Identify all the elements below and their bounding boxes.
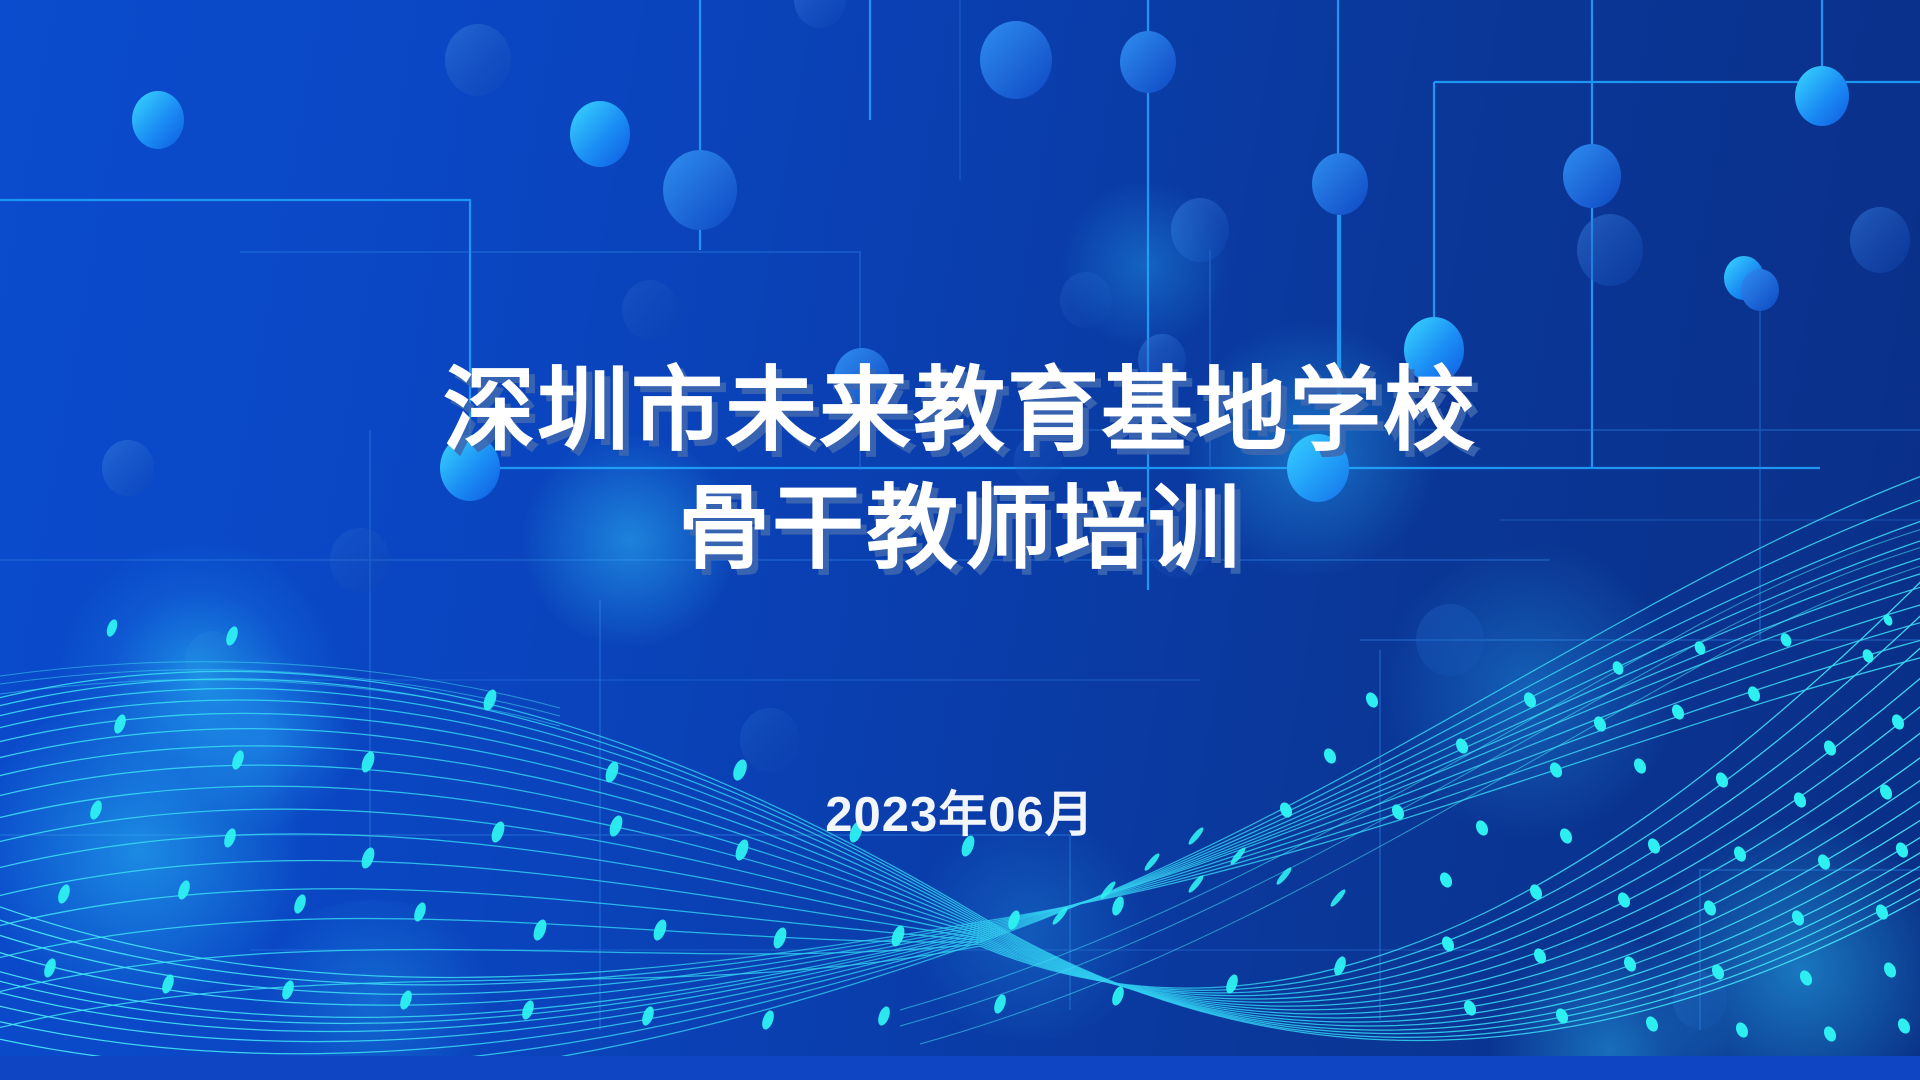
bottom-accent-bar xyxy=(0,1056,1920,1080)
presentation-slide: 深圳市未来教育基地学校 骨干教师培训 2023年06月 xyxy=(0,0,1920,1080)
glow-spot xyxy=(1060,180,1230,350)
glow-spot xyxy=(0,700,320,1000)
title-line-secondary: 骨干教师培训 xyxy=(0,470,1920,588)
title-line-primary: 深圳市未来教育基地学校 xyxy=(0,352,1920,470)
slide-title-block: 深圳市未来教育基地学校 骨干教师培训 xyxy=(0,352,1920,588)
glow-spot xyxy=(1640,820,1920,1080)
glow-spot xyxy=(245,900,505,1080)
slide-date: 2023年06月 xyxy=(0,775,1920,846)
glow-spot xyxy=(900,820,1160,1040)
